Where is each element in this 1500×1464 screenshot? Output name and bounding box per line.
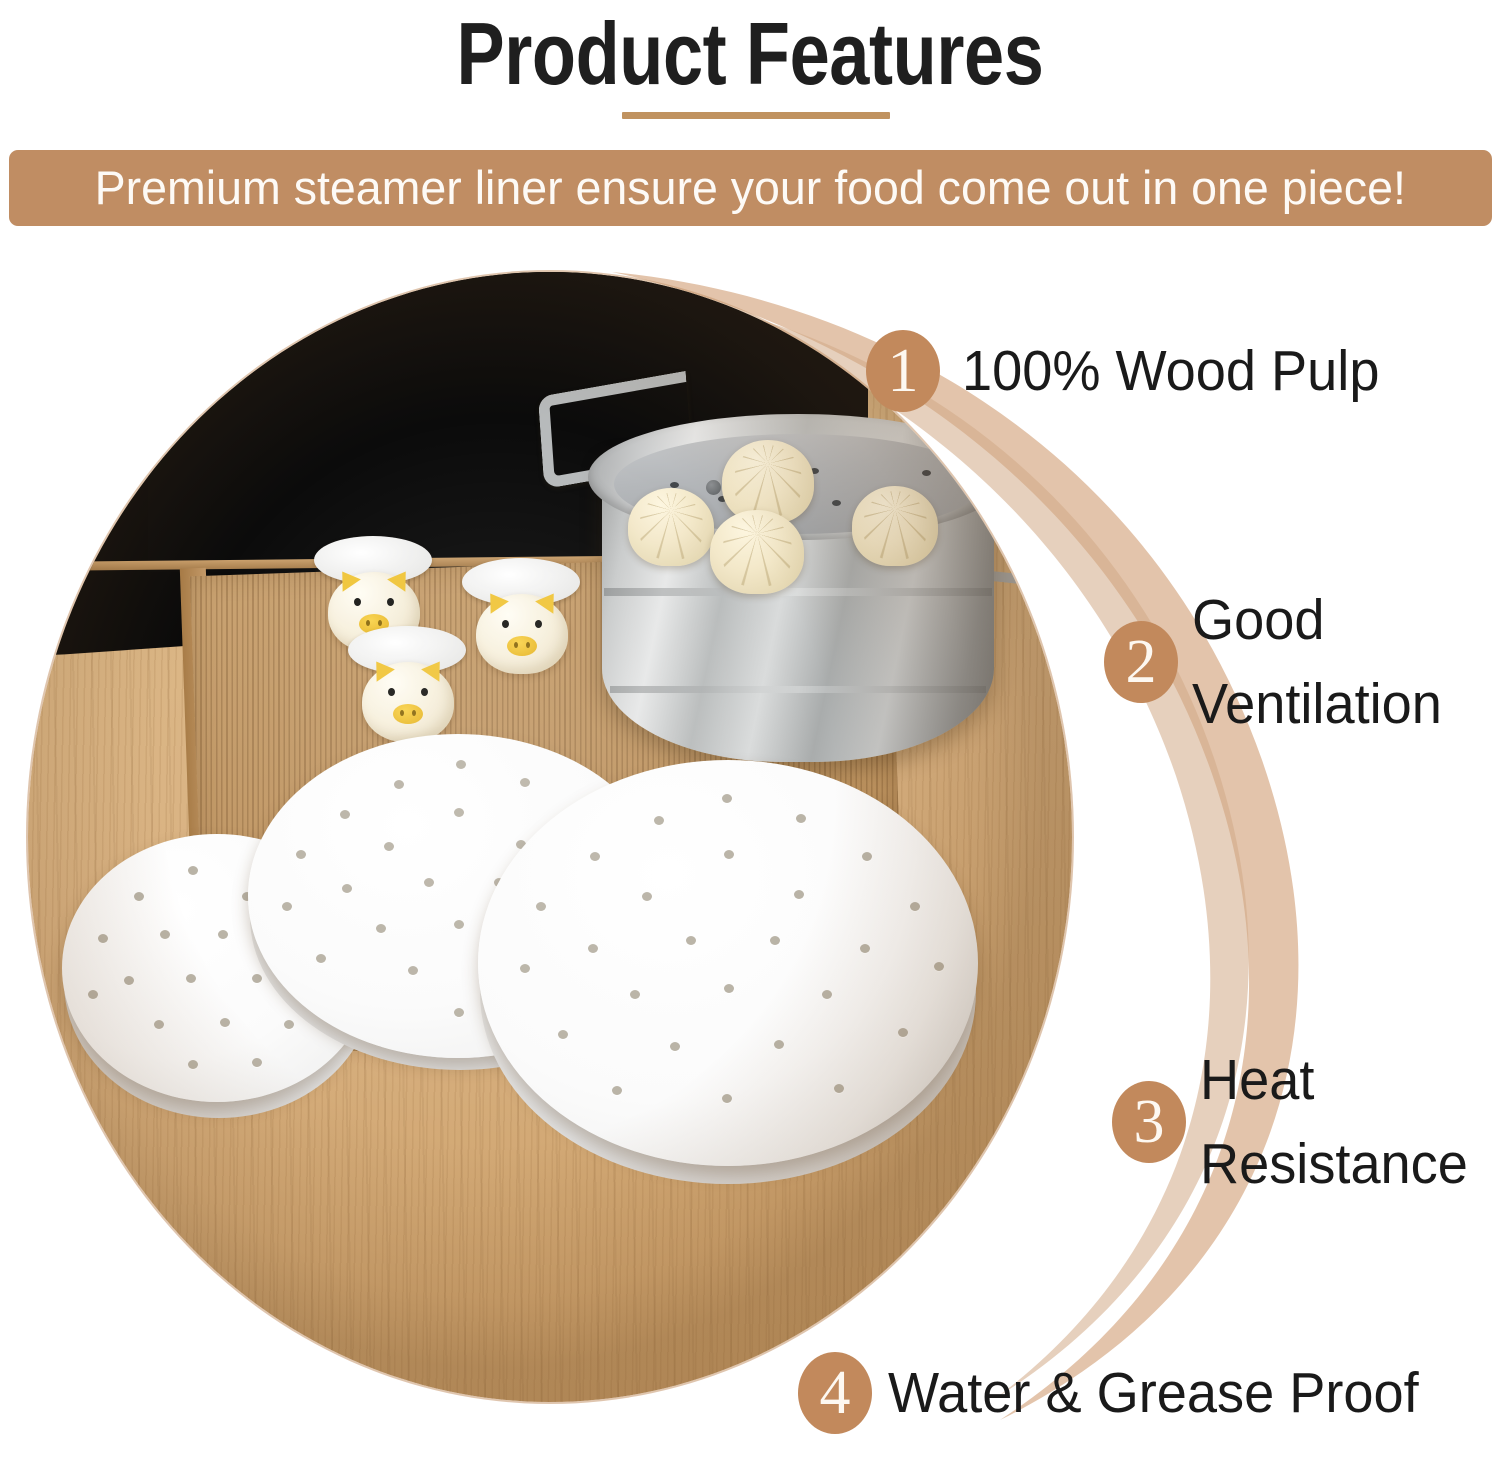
feature-label-2: Good Ventilation: [1192, 578, 1442, 746]
feature-badge-4: 4: [798, 1352, 872, 1434]
feature-illustration-stage: 1 100% Wood Pulp 2 Good Ventilation 3 He…: [0, 0, 1500, 1464]
feature-item-3: 3 Heat Resistance: [1112, 1038, 1482, 1206]
feature-label-4: Water & Grease Proof: [888, 1359, 1419, 1427]
feature-label-1: 100% Wood Pulp: [962, 337, 1379, 405]
feature-badge-2: 2: [1104, 621, 1178, 703]
table-rim-shading: [28, 272, 1072, 1402]
feature-label-3: Heat Resistance: [1200, 1038, 1468, 1206]
product-photo: [28, 272, 1072, 1402]
feature-item-4: 4 Water & Grease Proof: [798, 1352, 1447, 1434]
feature-item-1: 1 100% Wood Pulp: [866, 330, 1401, 412]
feature-badge-1: 1: [866, 330, 940, 412]
feature-item-2: 2 Good Ventilation: [1104, 578, 1455, 746]
feature-badge-3: 3: [1112, 1081, 1186, 1163]
